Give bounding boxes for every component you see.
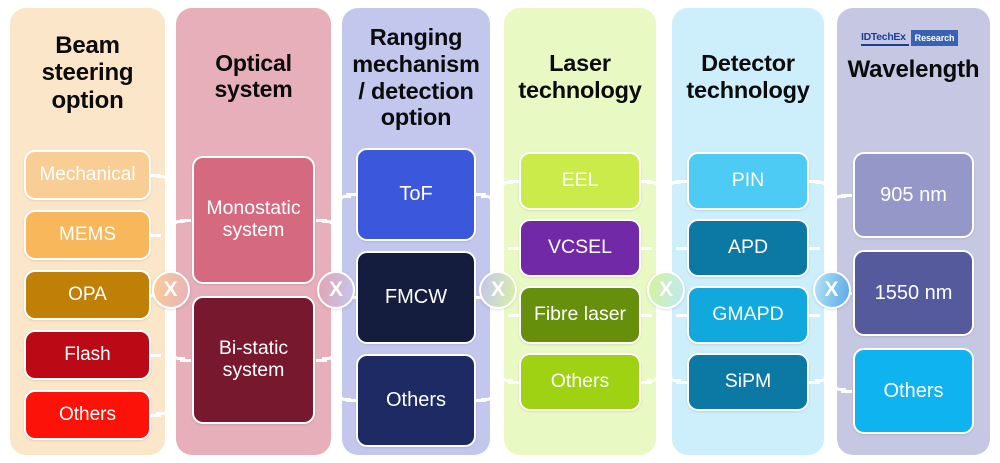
connector-x-1: X	[152, 271, 190, 309]
option-label: MEMS	[59, 224, 116, 245]
column-ranging-mechanism-detection-option: Rangingmechanism/ detectionoptionToFFMCW…	[342, 8, 490, 455]
option-box-wavelength-2[interactable]: Others	[853, 348, 974, 434]
connector-label: X	[329, 278, 343, 302]
bracket-stub-right	[641, 381, 652, 384]
column-title-line: option	[10, 87, 165, 114]
option-label: FMCW	[385, 286, 447, 308]
bracket-stub-right	[641, 247, 652, 250]
bracket-stub-right	[809, 180, 820, 183]
option-label-line: system	[223, 360, 285, 382]
column-title-line: technology	[504, 77, 656, 104]
option-box-detector-technology-0[interactable]: PIN	[687, 152, 809, 210]
option-label: GMAPD	[712, 304, 784, 326]
bracket-stub-right	[809, 381, 820, 384]
bracket-stub-right	[316, 219, 327, 222]
column-title-laser-technology: Lasertechnology	[504, 50, 656, 104]
option-box-detector-technology-1[interactable]: APD	[687, 219, 809, 277]
option-box-wavelength-1[interactable]: 1550 nm	[853, 250, 974, 336]
bracket-stub-left	[508, 180, 519, 183]
bracket-stub-left	[180, 219, 191, 222]
option-box-optical-system-0[interactable]: Monostaticsystem	[192, 156, 315, 284]
option-label: 905 nm	[880, 184, 947, 206]
option-label: Others	[386, 389, 446, 411]
bracket-stub-left	[180, 359, 191, 362]
option-label: APD	[728, 237, 768, 259]
bracket-stub-right	[475, 193, 486, 196]
option-box-laser-technology-1[interactable]: VCSEL	[519, 219, 641, 277]
column-title-line: Detector	[672, 50, 824, 77]
bracket-stub-right	[316, 359, 327, 362]
option-label: Others	[59, 404, 116, 425]
column-title-beam-steering-option: Beamsteeringoption	[10, 32, 165, 114]
column-title-line: system	[176, 76, 331, 102]
connector-label: X	[659, 278, 673, 302]
option-label: Others	[551, 371, 610, 393]
bracket-stub-left	[841, 194, 852, 197]
bracket-stub-left	[508, 381, 519, 384]
connector-x-4: X	[647, 271, 685, 309]
logo-research-badge: Research	[911, 30, 959, 46]
option-box-laser-technology-3[interactable]: Others	[519, 353, 641, 411]
option-label-line: Bi-static	[219, 338, 288, 360]
column-title-line: / detection	[342, 78, 490, 105]
column-title-optical-system: Opticalsystem	[176, 50, 331, 102]
option-label: Flash	[64, 344, 110, 365]
option-label: ToF	[399, 183, 432, 205]
bracket-stub-right	[150, 234, 161, 237]
column-title-line: Beam	[10, 32, 165, 59]
option-box-ranging-mechanism-detection-option-1[interactable]: FMCW	[356, 251, 476, 344]
column-title-line: option	[342, 104, 490, 131]
bracket-stub-right	[150, 414, 161, 417]
column-title-line: Wavelength	[837, 56, 990, 83]
bracket-stub-right	[809, 314, 820, 317]
option-label: EEL	[562, 170, 599, 192]
bracket-stub-left	[346, 193, 357, 196]
option-box-beam-steering-option-0[interactable]: Mechanical	[24, 150, 151, 200]
option-label: Mechanical	[39, 164, 135, 185]
column-optical-system: OpticalsystemMonostaticsystemBi-staticsy…	[176, 8, 331, 455]
option-label: OPA	[68, 284, 107, 305]
bracket-stub-right	[475, 399, 486, 402]
option-box-beam-steering-option-4[interactable]: Others	[24, 390, 151, 440]
option-label: Fibre laser	[534, 304, 626, 326]
connector-label: X	[824, 278, 838, 302]
option-box-detector-technology-2[interactable]: GMAPD	[687, 286, 809, 344]
column-title-line: mechanism	[342, 51, 490, 78]
column-title-line: Optical	[176, 50, 331, 76]
option-box-beam-steering-option-2[interactable]: OPA	[24, 270, 151, 320]
connector-x-2: X	[317, 271, 355, 309]
bracket-stub-left	[508, 247, 519, 250]
option-label: VCSEL	[548, 237, 612, 259]
technology-matrix-diagram: BeamsteeringoptionMechanicalMEMSOPAFlash…	[0, 0, 1000, 463]
bracket-stub-left	[841, 390, 852, 393]
option-label-line: Monostatic	[206, 198, 300, 220]
option-box-ranging-mechanism-detection-option-2[interactable]: Others	[356, 354, 476, 447]
option-box-beam-steering-option-1[interactable]: MEMS	[24, 210, 151, 260]
bracket-stub-right	[809, 247, 820, 250]
column-title-line: technology	[672, 77, 824, 104]
column-wavelength: WavelengthIDTechExResearch905 nm1550 nmO…	[837, 8, 990, 455]
bracket-stub-left	[676, 381, 687, 384]
option-label: 1550 nm	[875, 282, 953, 304]
column-laser-technology: LasertechnologyEELVCSELFibre laserOthers	[504, 8, 656, 455]
connector-label: X	[491, 278, 505, 302]
option-label-line: system	[223, 220, 285, 242]
option-label: SiPM	[725, 371, 772, 393]
option-box-wavelength-0[interactable]: 905 nm	[853, 152, 974, 238]
column-title-line: steering	[10, 59, 165, 86]
column-title-line: Ranging	[342, 24, 490, 51]
bracket-stub-left	[508, 314, 519, 317]
bracket-stub-left	[676, 314, 687, 317]
option-box-beam-steering-option-3[interactable]: Flash	[24, 330, 151, 380]
bracket-stub-left	[346, 399, 357, 402]
option-box-optical-system-1[interactable]: Bi-staticsystem	[192, 296, 315, 424]
bracket-stub-right	[150, 174, 161, 177]
connector-label: X	[163, 278, 177, 302]
bracket-stub-left	[676, 180, 687, 183]
idtechex-logo: IDTechExResearch	[861, 30, 958, 46]
bracket-stub-right	[641, 180, 652, 183]
column-title-detector-technology: Detectortechnology	[672, 50, 824, 104]
bracket-stub-left	[676, 247, 687, 250]
option-label: PIN	[732, 170, 765, 192]
column-title-wavelength: Wavelength	[837, 56, 990, 83]
bracket-stub-right	[150, 354, 161, 357]
column-title-ranging-mechanism-detection-option: Rangingmechanism/ detectionoption	[342, 24, 490, 131]
option-box-ranging-mechanism-detection-option-0[interactable]: ToF	[356, 148, 476, 241]
connector-x-3: X	[479, 271, 517, 309]
column-beam-steering-option: BeamsteeringoptionMechanicalMEMSOPAFlash…	[10, 8, 165, 455]
column-title-line: Laser	[504, 50, 656, 77]
column-detector-technology: DetectortechnologyPINAPDGMAPDSiPM	[672, 8, 824, 455]
option-box-laser-technology-2[interactable]: Fibre laser	[519, 286, 641, 344]
connector-x-5: X	[813, 271, 851, 309]
logo-wordmark: IDTechEx	[861, 30, 909, 46]
option-box-detector-technology-3[interactable]: SiPM	[687, 353, 809, 411]
bracket-stub-right	[641, 314, 652, 317]
option-label: Others	[883, 380, 943, 402]
option-box-laser-technology-0[interactable]: EEL	[519, 152, 641, 210]
